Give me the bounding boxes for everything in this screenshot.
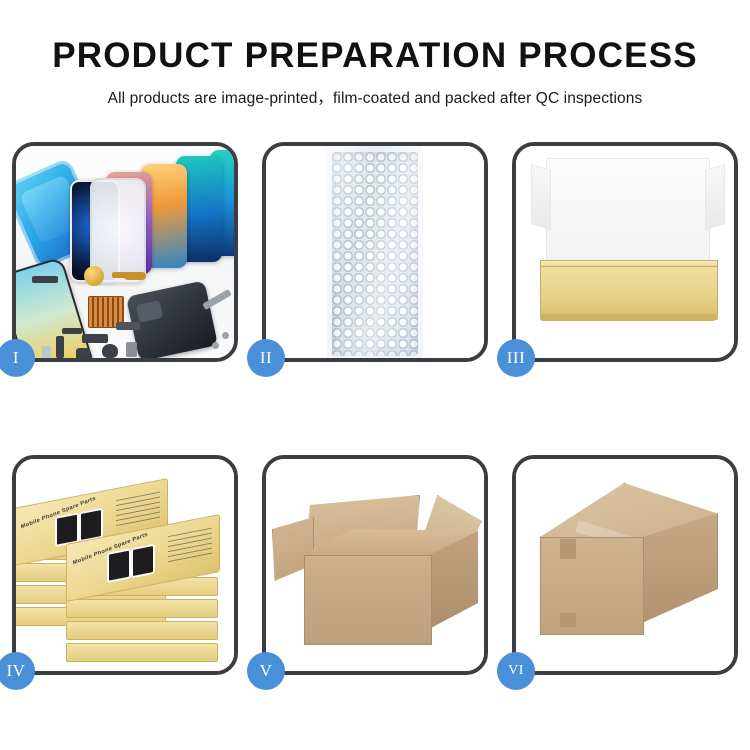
small-flex-part xyxy=(62,328,82,334)
step-image-2 xyxy=(266,146,484,358)
box-stack: Mobile Phone Spare Parts Mobile Phone Sp… xyxy=(16,471,234,671)
box-spec-lines xyxy=(168,528,212,567)
step-panel-6: VI xyxy=(512,455,738,675)
step-panel-2: II xyxy=(262,142,488,362)
page-subtitle: All products are image-printed，film-coat… xyxy=(0,86,750,108)
step-image-1 xyxy=(16,146,234,358)
carton-mark-upper xyxy=(560,539,576,559)
step-image-5 xyxy=(266,459,484,671)
step-badge-4: IV xyxy=(0,652,35,690)
carton-front-panel xyxy=(304,555,432,645)
box-window-1 xyxy=(107,548,131,583)
flex-cable-part xyxy=(32,276,58,283)
step-panel-5: V xyxy=(262,455,488,675)
carton-front-face xyxy=(540,537,644,635)
battery-part xyxy=(42,346,51,358)
box-spec-lines xyxy=(116,492,160,531)
step-image-3 xyxy=(516,146,734,358)
sim-tray-part xyxy=(126,342,137,357)
carton-mark-lower xyxy=(560,613,576,627)
camera-module-part xyxy=(76,348,90,358)
stack-layer xyxy=(66,643,218,662)
step-panel-3: III xyxy=(512,142,738,362)
process-steps-grid: I II III xyxy=(0,142,750,682)
speaker-module-icon xyxy=(84,266,104,286)
step-badge-1: I xyxy=(0,339,35,377)
sealed-carton-illustration xyxy=(516,459,734,671)
phone-fan-group xyxy=(68,150,234,282)
inner-box-illustration xyxy=(516,146,734,358)
bubble-wrap-illustration xyxy=(266,146,484,358)
step-image-6 xyxy=(516,459,734,671)
button-flex-part xyxy=(82,334,108,343)
box-base-edge xyxy=(540,314,716,321)
step-panel-4: Mobile Phone Spare Parts Mobile Phone Sp… xyxy=(12,455,238,675)
step-panel-1: I xyxy=(12,142,238,362)
step-badge-3: III xyxy=(497,339,535,377)
step-image-4: Mobile Phone Spare Parts Mobile Phone Sp… xyxy=(16,459,234,671)
stacked-boxes-illustration: Mobile Phone Spare Parts Mobile Phone Sp… xyxy=(16,459,234,671)
step-badge-2: II xyxy=(247,339,285,377)
phone-back-housing xyxy=(126,280,218,358)
open-carton-illustration xyxy=(266,459,484,671)
phones-and-parts-illustration xyxy=(16,146,234,358)
vibrator-part xyxy=(102,344,118,358)
stack-layer xyxy=(66,599,218,618)
stack-layer xyxy=(66,621,218,640)
screw-part-2 xyxy=(222,332,229,339)
connector-strip-part xyxy=(116,322,140,330)
page-title: PRODUCT PREPARATION PROCESS xyxy=(0,38,750,73)
gold-contact-part xyxy=(112,272,130,278)
kraft-box-body xyxy=(540,266,718,320)
box-window-2 xyxy=(131,544,155,579)
screw-part-1 xyxy=(212,342,219,349)
plastic-sheen-overlay xyxy=(327,146,423,358)
page-header: PRODUCT PREPARATION PROCESS All products… xyxy=(0,0,750,108)
vertical-cable-part xyxy=(56,336,64,358)
step-badge-6: VI xyxy=(497,652,535,690)
step-badge-5: V xyxy=(247,652,285,690)
